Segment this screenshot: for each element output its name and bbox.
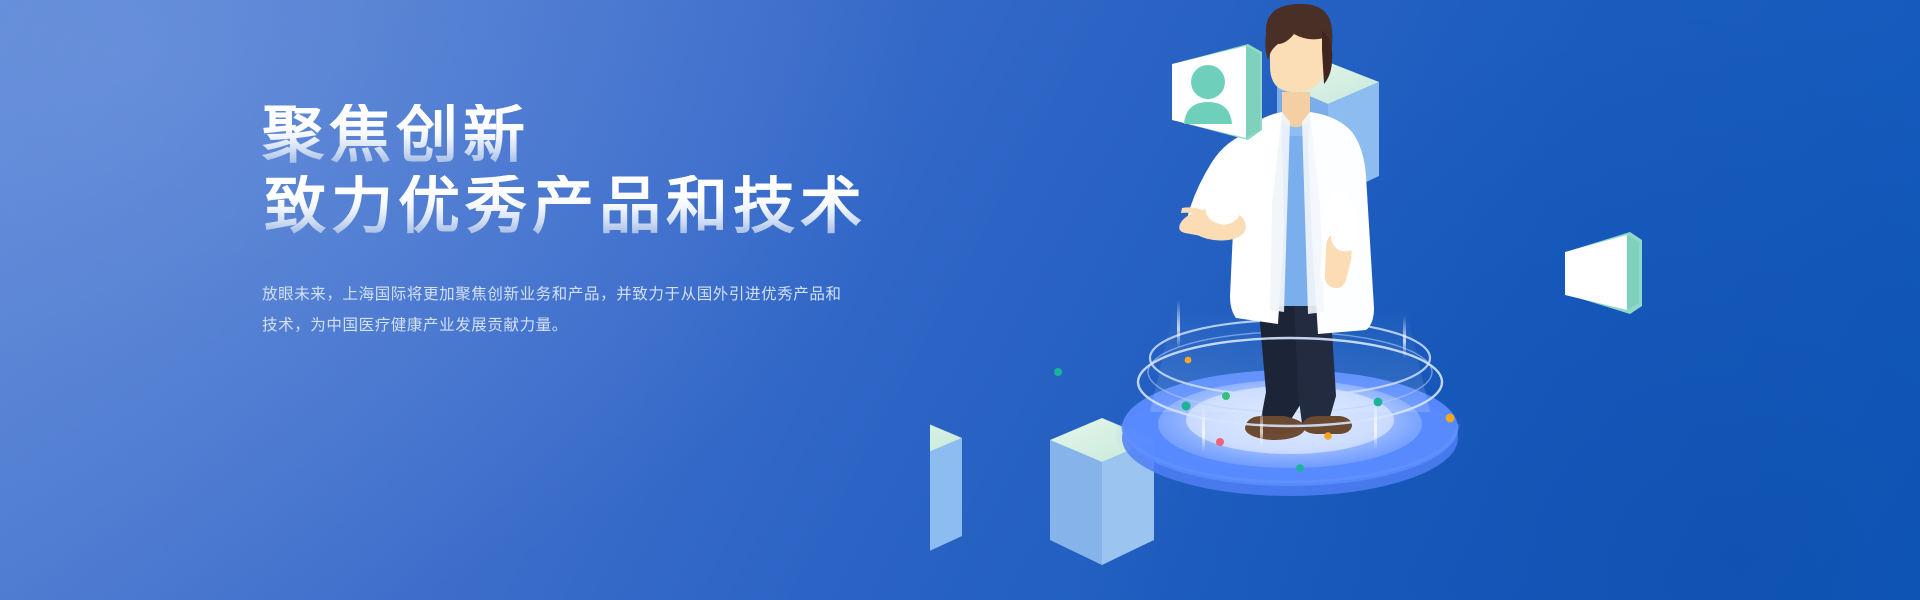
hero-illustration xyxy=(930,0,1920,600)
isometric-block-left xyxy=(930,416,962,560)
headline-line-1: 聚焦创新 xyxy=(262,104,962,167)
user-avatar-card xyxy=(1172,44,1262,140)
blank-card-icon xyxy=(1565,232,1642,314)
hero-banner: 聚焦创新 致力优秀产品和技术 放眼未来，上海国际将更加聚焦创新业务和产品，并致力… xyxy=(0,0,1920,600)
headline-line-2: 致力优秀产品和技术 xyxy=(264,175,962,238)
banner-copy: 聚焦创新 致力优秀产品和技术 放眼未来，上海国际将更加聚焦创新业务和产品，并致力… xyxy=(262,104,962,341)
banner-subtitle: 放眼未来，上海国际将更加聚焦创新业务和产品，并致力于从国外引进优秀产品和技术，为… xyxy=(262,280,852,340)
